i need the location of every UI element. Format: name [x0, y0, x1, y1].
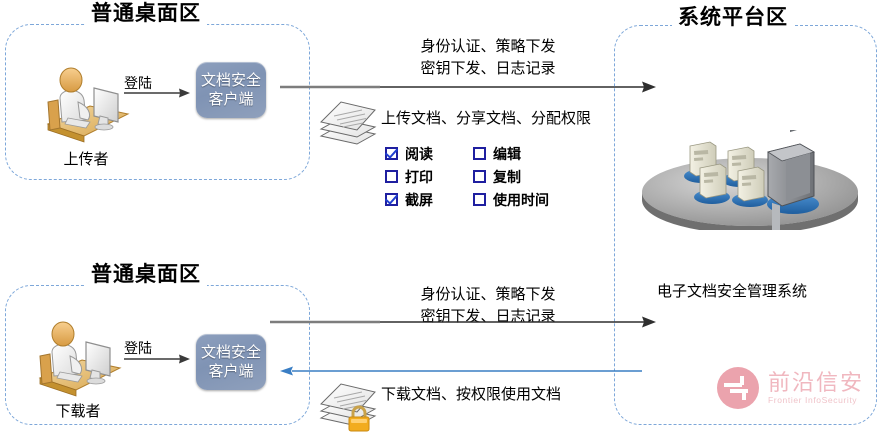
person-at-desk-icon: [30, 312, 126, 400]
docs-action-label-bottom: 下载文档、按权限使用文档: [381, 384, 561, 405]
permission-item-5[interactable]: 使用时间: [473, 190, 573, 210]
brand-logo: 前沿信安 Frontier InfoSecurity: [716, 366, 864, 410]
client-box-line1: 文档安全: [201, 71, 261, 90]
channel-label-top-line2: 密钥下发、日志记录: [368, 58, 608, 80]
permission-label-1: 编辑: [493, 144, 521, 164]
checkbox-unchecked-icon[interactable]: [473, 193, 486, 206]
zone-bottom-desktop-title: 普通桌面区: [85, 263, 207, 287]
zone-system-platform-title: 系统平台区: [672, 6, 794, 30]
brand-name-en: Frontier InfoSecurity: [768, 395, 864, 406]
diagram-canvas: 普通桌面区: [0, 0, 882, 444]
permission-item-1[interactable]: 编辑: [473, 144, 573, 164]
document-stack-icon: [317, 96, 379, 148]
zone-top-desktop-title: 普通桌面区: [85, 2, 207, 26]
actor-label-uploader: 上传者: [38, 148, 134, 169]
locked-document-stack-icon: [317, 378, 381, 434]
login-arrow-top: [124, 86, 190, 100]
permission-label-4: 截屏: [405, 190, 433, 210]
channel-label-top-line1: 身份认证、策略下发: [368, 36, 608, 58]
docs-action-label-top: 上传文档、分享文档、分配权限: [381, 108, 591, 129]
channel-label-bottom-line1: 身份认证、策略下发: [368, 284, 608, 306]
person-at-desk-icon: [38, 58, 134, 146]
permission-label-5: 使用时间: [493, 190, 549, 210]
actor-label-downloader: 下载者: [30, 400, 126, 421]
frontier-infosecurity-logo-icon: [716, 366, 760, 410]
checkbox-checked-icon[interactable]: [385, 147, 398, 160]
auth-arrow-bottom: [270, 315, 656, 329]
client-box-line1: 文档安全: [201, 343, 261, 362]
client-box-line2: 客户端: [208, 362, 253, 381]
permission-label-0: 阅读: [405, 144, 433, 164]
permission-item-0[interactable]: 阅读: [385, 144, 473, 164]
checkbox-unchecked-icon[interactable]: [385, 170, 398, 183]
client-box-top[interactable]: 文档安全 客户端: [196, 62, 266, 118]
checkbox-unchecked-icon[interactable]: [473, 147, 486, 160]
checkbox-unchecked-icon[interactable]: [473, 170, 486, 183]
client-box-bottom[interactable]: 文档安全 客户端: [196, 334, 266, 390]
channel-label-top: 身份认证、策略下发 密钥下发、日志记录: [368, 36, 608, 80]
permission-item-2[interactable]: 打印: [385, 167, 473, 187]
permission-label-2: 打印: [405, 167, 433, 187]
checkbox-checked-icon[interactable]: [385, 193, 398, 206]
permission-item-4[interactable]: 截屏: [385, 190, 473, 210]
auth-arrow-top: [280, 80, 656, 94]
server-cluster-icon: [640, 130, 860, 230]
client-box-line2: 客户端: [208, 90, 253, 109]
system-name-label: 电子文档安全管理系统: [657, 281, 807, 302]
permission-grid: 阅读 编辑 打印 复制 截屏 使用时间: [385, 142, 573, 211]
download-return-arrow: [280, 365, 642, 377]
brand-name-cn: 前沿信安: [768, 371, 864, 395]
permission-item-3[interactable]: 复制: [473, 167, 573, 187]
permission-label-3: 复制: [493, 167, 521, 187]
login-arrow-bottom: [124, 352, 190, 366]
